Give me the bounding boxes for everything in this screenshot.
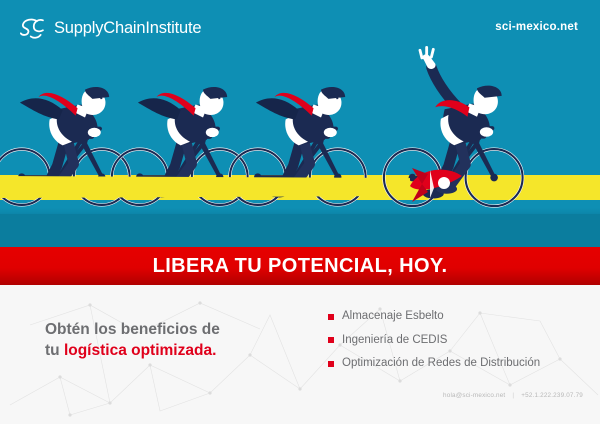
contact-separator: | bbox=[512, 392, 514, 399]
list-item[interactable]: Almacenaje Esbelto bbox=[328, 311, 540, 323]
services-list: Almacenaje Esbelto Ingeniería de CEDIS O… bbox=[328, 311, 540, 382]
service-label: Ingeniería de CEDIS bbox=[342, 335, 447, 347]
ground-band bbox=[0, 214, 600, 247]
headline-accent: logística optimizada. bbox=[64, 342, 216, 359]
contact-phone[interactable]: +52.1.222.239.07.79 bbox=[521, 392, 583, 399]
bullet-square-icon bbox=[328, 314, 334, 320]
hero-section: SupplyChainInstitute sci-mexico.net bbox=[0, 0, 600, 247]
service-label: Optimización de Redes de Distribución bbox=[342, 358, 540, 370]
tagline-text: LIBERA TU POTENCIAL, HOY. bbox=[153, 256, 448, 276]
list-item[interactable]: Optimización de Redes de Distribución bbox=[328, 358, 540, 370]
contact-info: hola@sci-mexico.net | +52.1.222.239.07.7… bbox=[443, 392, 583, 399]
info-section: Obtén los beneficios de tu logística opt… bbox=[0, 285, 600, 424]
bullet-square-icon bbox=[328, 361, 334, 367]
headline: Obtén los beneficios de tu logística opt… bbox=[45, 319, 295, 361]
contact-email[interactable]: hola@sci-mexico.net bbox=[443, 392, 505, 399]
headline-prefix: tu bbox=[45, 342, 64, 359]
headline-line-1: Obtén los beneficios de bbox=[45, 319, 295, 340]
poster: SupplyChainInstitute sci-mexico.net bbox=[0, 0, 600, 424]
list-item[interactable]: Ingeniería de CEDIS bbox=[328, 335, 540, 347]
service-label: Almacenaje Esbelto bbox=[342, 311, 444, 323]
headline-line-2: tu logística optimizada. bbox=[45, 340, 295, 361]
tagline-banner: LIBERA TU POTENCIAL, HOY. bbox=[0, 247, 600, 285]
bullet-square-icon bbox=[328, 337, 334, 343]
